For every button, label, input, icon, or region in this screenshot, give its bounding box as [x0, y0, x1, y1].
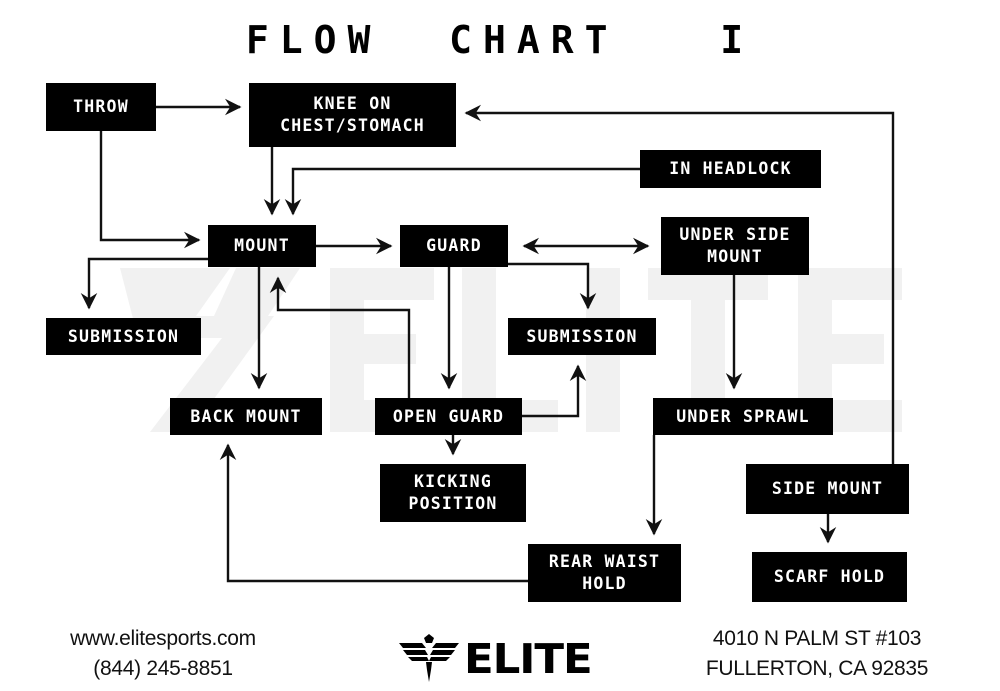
node-rear-waist-hold[interactable]: REAR WAIST HOLD: [528, 544, 681, 602]
node-in-headlock[interactable]: IN HEADLOCK: [640, 150, 821, 188]
node-under-sprawl[interactable]: UNDER SPRAWL: [653, 398, 833, 435]
edge-guard-submission: [508, 264, 588, 308]
node-throw[interactable]: THROW: [46, 83, 156, 131]
edge-headlock-mount: [293, 169, 640, 214]
node-guard[interactable]: GUARD: [400, 225, 508, 267]
node-submission-left[interactable]: SUBMISSION: [46, 318, 201, 355]
node-back-mount[interactable]: BACK MOUNT: [170, 398, 322, 435]
node-side-mount[interactable]: SIDE MOUNT: [746, 464, 909, 514]
node-open-guard[interactable]: OPEN GUARD: [375, 398, 522, 435]
node-scarf-hold[interactable]: SCARF HOLD: [752, 552, 907, 602]
flowchart-canvas: FLOW CHART I: [0, 0, 1000, 691]
node-under-side-mount[interactable]: UNDER SIDE MOUNT: [661, 217, 809, 275]
node-submission-right[interactable]: SUBMISSION: [508, 318, 656, 355]
node-knee-on-chest[interactable]: KNEE ON CHEST/STOMACH: [249, 83, 456, 147]
node-mount[interactable]: MOUNT: [208, 225, 316, 267]
edge-openguard-submission: [522, 366, 578, 416]
edge-mount-submission: [89, 259, 208, 308]
edge-openguard-mount: [278, 278, 409, 398]
node-kicking-position[interactable]: KICKING POSITION: [380, 464, 526, 522]
edge-throw-mount: [101, 131, 199, 240]
